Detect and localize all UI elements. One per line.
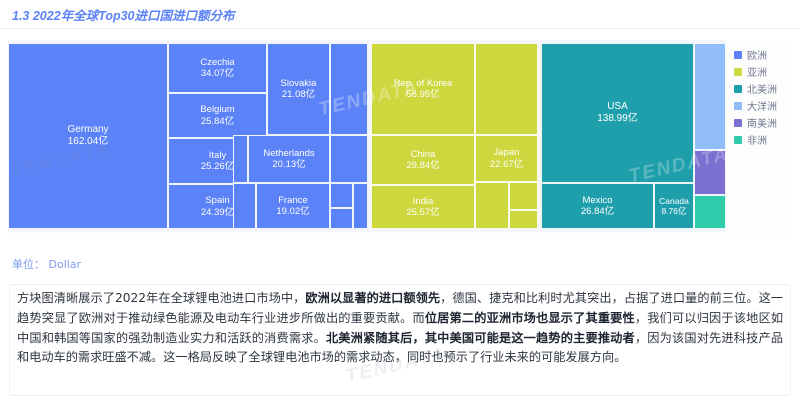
treemap-cell-asia-minor[interactable] (509, 210, 538, 229)
treemap-cell-europe-minor[interactable] (330, 43, 368, 135)
cell-label-value: 138.99亿 (597, 113, 638, 125)
cell-label-value: 25.84亿 (201, 116, 234, 127)
cell-label-name: Germany (67, 124, 108, 136)
cell-label-value: 29.84亿 (406, 160, 439, 171)
cell-label-name: Slovakia (281, 78, 317, 89)
cell-label-value: 26.84亿 (581, 206, 614, 217)
cell-label-name: Mexico (582, 195, 612, 206)
legend-label: 亚洲 (747, 64, 767, 79)
legend-swatch-icon (734, 136, 742, 144)
legend-swatch-icon (734, 85, 742, 93)
cell-label-value: 21.08亿 (282, 89, 315, 100)
legend-item-europe[interactable]: 欧洲 (734, 46, 800, 63)
treemap-cell-mexico[interactable]: Mexico 26.84亿 (541, 183, 654, 229)
cell-label-name: France (278, 195, 308, 206)
cell-label-value: 20.13亿 (272, 159, 305, 170)
treemap-plot-area: Germany 162.04亿 Czechia 34.07亿 Belgium 2… (8, 40, 726, 232)
treemap-cell-usa[interactable]: USA 138.99亿 (541, 43, 694, 183)
legend-label: 南美洲 (747, 115, 777, 130)
page-title-bar: 1.3 2022年全球Top30进口国进口额分布 (0, 0, 800, 28)
cell-label-value: 24.39亿 (201, 207, 234, 218)
cell-label-name: Netherlands (263, 148, 314, 159)
treemap-cell-slovakia[interactable]: Slovakia 21.08亿 (267, 43, 330, 135)
treemap-cell-china[interactable]: China 29.84亿 (371, 135, 475, 185)
cell-label-name: Spain (205, 195, 229, 206)
legend-swatch-icon (734, 68, 742, 76)
treemap-cell-japan[interactable]: Japan 22.67亿 (475, 135, 538, 182)
cell-label-value: 8.76亿 (661, 206, 686, 216)
treemap-cell-south-america[interactable] (694, 150, 726, 195)
analysis-emphasis-2: 位居第二的亚洲市场也显示了其重要性 (425, 311, 635, 325)
page-title: 1.3 2022年全球Top30进口国进口额分布 (12, 5, 235, 24)
report-page: 1.3 2022年全球Top30进口国进口额分布 Germany 162.04亿… (0, 0, 800, 402)
treemap-cell-netherlands[interactable]: Netherlands 20.13亿 (248, 135, 330, 183)
treemap-cell-france[interactable]: France 19.02亿 (256, 183, 330, 229)
cell-label-name: Japan (494, 147, 520, 158)
analysis-emphasis-3: 北美洲紧随其后，其中美国可能是这一趋势的主要推动者 (326, 331, 635, 345)
cell-label-value: 19.02亿 (276, 206, 309, 217)
analysis-panel: 方块图清晰展示了2022年在全球锂电池进口市场中，欧洲以显著的进口额领先，德国、… (9, 284, 791, 396)
treemap-cell-asia-minor[interactable] (475, 43, 538, 135)
treemap-cell-europe-minor[interactable] (330, 183, 353, 208)
legend-item-africa[interactable]: 非洲 (734, 131, 800, 148)
treemap-cell-asia-minor[interactable] (475, 182, 509, 229)
cell-label-value: 25.26亿 (201, 161, 234, 172)
legend-item-north-america[interactable]: 北美洲 (734, 80, 800, 97)
treemap-cell-europe-minor[interactable] (233, 183, 256, 229)
treemap-cell-canada[interactable]: Canada 8.76亿 (654, 183, 694, 229)
analysis-text-1: 方块图清晰展示了2022年在全球锂电池进口市场中， (17, 291, 305, 305)
treemap-cell-europe-minor[interactable] (330, 208, 353, 229)
legend-label: 北美洲 (747, 81, 777, 96)
legend-item-oceania[interactable]: 大洋洲 (734, 97, 800, 114)
treemap-cell-asia-minor[interactable] (509, 182, 538, 210)
legend-swatch-icon (734, 102, 742, 110)
cell-label-name: Italy (209, 150, 226, 161)
analysis-emphasis-1: 欧洲以显著的进口额领先 (305, 291, 440, 305)
cell-label-name: USA (607, 101, 628, 113)
legend-label: 大洋洲 (747, 98, 777, 113)
treemap-cell-africa[interactable] (694, 195, 726, 229)
cell-label-name: Belgium (200, 104, 234, 115)
chart-legend: 欧洲 亚洲 北美洲 大洋洲 南美洲 非洲 (734, 46, 800, 148)
treemap-cell-germany[interactable]: Germany 162.04亿 (8, 43, 168, 229)
cell-label-value: 162.04亿 (68, 136, 109, 148)
treemap-cell-europe-minor[interactable] (330, 135, 368, 183)
legend-item-south-america[interactable]: 南美洲 (734, 114, 800, 131)
cell-label-value: 25.57亿 (406, 207, 439, 218)
legend-swatch-icon (734, 51, 742, 59)
cell-label-value: 22.67亿 (490, 159, 523, 170)
legend-label: 非洲 (747, 132, 767, 147)
cell-label-name: China (411, 149, 436, 160)
treemap-chart: Germany 162.04亿 Czechia 34.07亿 Belgium 2… (8, 40, 792, 235)
legend-swatch-icon (734, 119, 742, 127)
treemap-cell-rep-of-korea[interactable]: Rep. of Korea 56.95亿 (371, 43, 475, 135)
legend-label: 欧洲 (747, 47, 767, 62)
treemap-cell-europe-minor[interactable] (233, 135, 248, 183)
cell-label-name: Canada (659, 196, 689, 206)
analysis-paragraph: 方块图清晰展示了2022年在全球锂电池进口市场中，欧洲以显著的进口额领先，德国、… (17, 289, 783, 368)
cell-label-name: Czechia (200, 57, 234, 68)
cell-label-value: 56.95亿 (406, 89, 439, 100)
treemap-cell-belgium[interactable]: Belgium 25.84亿 (168, 93, 267, 138)
title-divider (0, 28, 800, 29)
treemap-cell-europe-minor[interactable] (353, 183, 368, 229)
legend-item-asia[interactable]: 亚洲 (734, 63, 800, 80)
treemap-cell-oceania[interactable] (694, 43, 726, 150)
cell-label-name: India (413, 196, 434, 207)
cell-label-value: 34.07亿 (201, 68, 234, 79)
treemap-cell-india[interactable]: India 25.57亿 (371, 185, 475, 229)
unit-label: 单位： Dollar (12, 256, 81, 272)
cell-label-name: Rep. of Korea (394, 78, 453, 89)
treemap-cell-czechia[interactable]: Czechia 34.07亿 (168, 43, 267, 93)
